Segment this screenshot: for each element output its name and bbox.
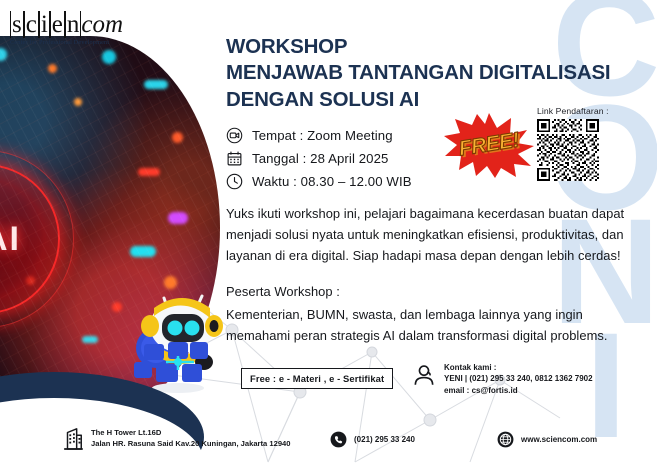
page-title: WORKSHOP MENJAWAB TANTANGAN DIGITALISASI… [226,34,636,113]
participants-text: Kementerian, BUMN, swasta, dan lembaga l… [226,305,626,347]
ai-outer-ring [0,150,74,328]
clock-icon [226,173,243,190]
footer-bar: The H Tower Lt.16D Jalan HR. Rasuna Said… [0,424,657,464]
globe-icon [497,431,514,448]
footer-website[interactable]: www.sciencom.com [497,431,597,448]
logo-suffix: com [81,11,123,38]
phone-icon [330,431,347,448]
participants-section: Peserta Workshop : Kementerian, BUMN, sw… [226,282,626,347]
footer-phone[interactable]: (021) 295 33 240 [330,431,415,448]
contact-person-phone: YENI | (021) 295 33 240, 0812 1362 7902 [444,373,593,384]
free-badge: FREE! [443,112,535,178]
qr-code[interactable] [537,119,599,181]
contact-lines: Kontak kami : YENI | (021) 295 33 240, 0… [444,362,593,396]
footer-phone-text: (021) 295 33 240 [354,435,415,444]
footer-address-line-1: The H Tower Lt.16D [91,427,291,438]
poster-canvas: C O N I [0,0,657,464]
title-line-1: WORKSHOP [226,34,636,60]
contact-block: Kontak kami : YENI | (021) 295 33 240, 0… [411,362,593,396]
footer-address-line-2: Jalan HR. Rasuna Said Kav.20 Kuningan, J… [91,438,291,449]
logo-letter: s [10,11,24,38]
contact-email: email : cs@fortis.id [444,385,593,396]
detail-text-venue: Tempat : Zoom Meeting [252,128,393,143]
ai-emblem-label: AI [0,220,21,259]
ai-emblem: AI [0,164,60,314]
logo-wordmark: sciencom [10,12,150,37]
logo-letter: n [65,11,82,38]
footer-address-lines: The H Tower Lt.16D Jalan HR. Rasuna Said… [91,427,291,450]
free-inclusions-box: Free : e - Materi , e - Sertifikat [241,368,393,389]
video-camera-icon [226,127,243,144]
contact-label: Kontak kami : [444,362,593,373]
intro-paragraph: Yuks ikuti workshop ini, pelajari bagaim… [226,204,626,267]
person-support-icon [411,362,437,388]
logo-letter: e [50,11,65,38]
participants-label: Peserta Workshop : [226,282,626,303]
registration-qr-block[interactable]: Link Pendaftaran : [537,106,633,186]
main-content: WORKSHOP MENJAWAB TANTANGAN DIGITALISASI… [226,34,636,347]
logo-letter: i [39,11,50,38]
qr-label: Link Pendaftaran : [537,106,633,116]
detail-text-time: Waktu : 08.30 – 12.00 WIB [252,174,412,189]
building-icon [62,426,84,450]
detail-text-date: Tanggal : 28 April 2025 [252,151,388,166]
calendar-icon [226,150,243,167]
brand-logo: sciencom Center for Professional Develop… [10,12,150,46]
logo-letter: c [24,11,39,38]
robot-mascot-illustration [120,276,240,396]
title-line-2: MENJAWAB TANTANGAN DIGITALISASI [226,60,636,86]
footer-website-text: www.sciencom.com [521,435,597,444]
footer-address: The H Tower Lt.16D Jalan HR. Rasuna Said… [62,426,291,450]
logo-tagline: Center for Professional Development [10,39,150,46]
